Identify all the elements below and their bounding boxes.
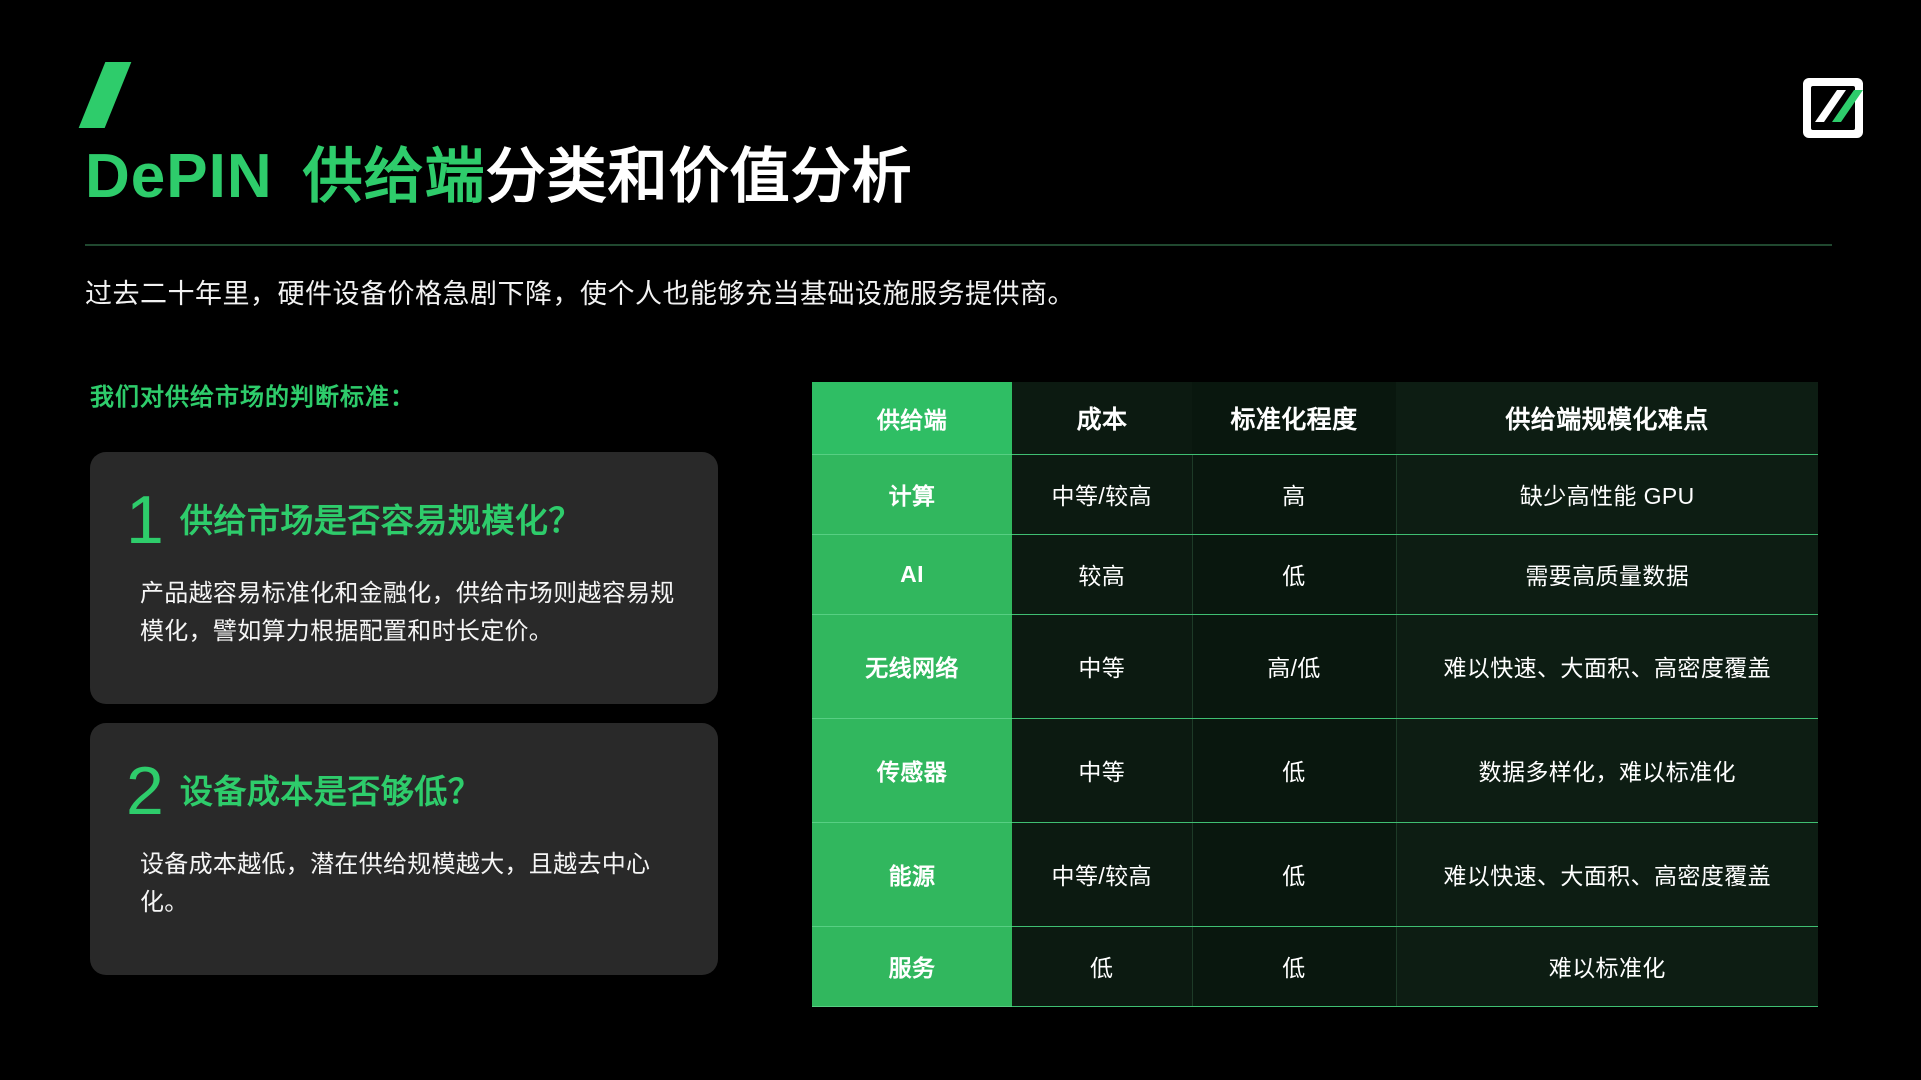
cell-cost: 低: [1012, 926, 1192, 1006]
cell-supply: AI: [812, 534, 1012, 614]
table-row: AI 较高 低 需要高质量数据: [812, 534, 1818, 614]
table-row: 能源 中等/较高 低 难以快速、大面积、高密度覆盖: [812, 822, 1818, 926]
cell-cost: 中等: [1012, 718, 1192, 822]
criteria-card-2-number: 2: [126, 759, 164, 824]
page-title: DePIN 供给端 分类和价值分析: [85, 128, 913, 215]
cell-standardization: 低: [1192, 926, 1396, 1006]
column-header-cost: 成本: [1012, 382, 1192, 454]
criteria-card-1-number: 1: [126, 488, 164, 553]
header-divider: [85, 244, 1832, 246]
column-header-supply: 供给端: [812, 382, 1012, 454]
cell-supply: 能源: [812, 822, 1012, 926]
supply-matrix-head: 供给端 成本 标准化程度 供给端规模化难点: [812, 382, 1818, 454]
z-slash-logo-icon: [1802, 77, 1864, 139]
cell-difficulty: 难以快速、大面积、高密度覆盖: [1396, 614, 1818, 718]
table-row: 无线网络 中等 高/低 难以快速、大面积、高密度覆盖: [812, 614, 1818, 718]
cell-difficulty: 难以快速、大面积、高密度覆盖: [1396, 822, 1818, 926]
slide-root: DePIN 供给端 分类和价值分析 过去二十年里，硬件设备价格急剧下降，使个人也…: [0, 0, 1921, 1080]
column-header-difficulty: 供给端规模化难点: [1396, 382, 1818, 454]
cell-supply: 计算: [812, 454, 1012, 534]
criteria-card-2-title: 设备成本是否够低？: [180, 765, 482, 817]
criteria-card-1-title: 供给市场是否容易规模化？: [180, 494, 582, 546]
criteria-label: 我们对供给市场的判断标准：: [90, 377, 415, 412]
criteria-card-2-head: 2 设备成本是否够低？: [126, 759, 676, 824]
cell-difficulty: 需要高质量数据: [1396, 534, 1818, 614]
page-subtitle: 过去二十年里，硬件设备价格急剧下降，使个人也能够充当基础设施服务提供商。: [85, 272, 1075, 311]
criteria-card-1-body: 产品越容易标准化和金融化，供给市场则越容易规模化，譬如算力根据配置和时长定价。: [140, 575, 676, 653]
cell-supply: 服务: [812, 926, 1012, 1006]
cell-cost: 中等: [1012, 614, 1192, 718]
table-row: 计算 中等/较高 高 缺少高性能 GPU: [812, 454, 1818, 534]
page-title-white: 分类和价值分析: [486, 128, 913, 215]
supply-matrix-table: 供给端 成本 标准化程度 供给端规模化难点 计算 中等/较高 高 缺少高性能 G…: [812, 382, 1818, 1007]
supply-matrix-table-wrap: 供给端 成本 标准化程度 供给端规模化难点 计算 中等/较高 高 缺少高性能 G…: [812, 382, 1818, 1007]
column-header-standardization: 标准化程度: [1192, 382, 1396, 454]
cell-standardization: 高/低: [1192, 614, 1396, 718]
cell-difficulty: 数据多样化，难以标准化: [1396, 718, 1818, 822]
cell-cost: 较高: [1012, 534, 1192, 614]
supply-matrix-body: 计算 中等/较高 高 缺少高性能 GPU AI 较高 低 需要高质量数据 无线网…: [812, 454, 1818, 1006]
table-header-row: 供给端 成本 标准化程度 供给端规模化难点: [812, 382, 1818, 454]
criteria-card-2: 2 设备成本是否够低？ 设备成本越低，潜在供给规模越大，且越去中心化。: [90, 723, 718, 975]
criteria-card-1: 1 供给市场是否容易规模化？ 产品越容易标准化和金融化，供给市场则越容易规模化，…: [90, 452, 718, 704]
cell-difficulty: 难以标准化: [1396, 926, 1818, 1006]
cell-standardization: 低: [1192, 718, 1396, 822]
slash-accent-icon: [79, 62, 132, 128]
cell-standardization: 低: [1192, 534, 1396, 614]
table-row: 传感器 中等 低 数据多样化，难以标准化: [812, 718, 1818, 822]
criteria-card-2-body: 设备成本越低，潜在供给规模越大，且越去中心化。: [140, 846, 676, 924]
criteria-card-1-head: 1 供给市场是否容易规模化？: [126, 488, 676, 553]
page-title-green: 供给端: [303, 128, 486, 215]
cell-difficulty: 缺少高性能 GPU: [1396, 454, 1818, 534]
cell-standardization: 高: [1192, 454, 1396, 534]
page-title-brand: DePIN: [85, 141, 273, 212]
cell-standardization: 低: [1192, 822, 1396, 926]
cell-cost: 中等/较高: [1012, 822, 1192, 926]
table-row: 服务 低 低 难以标准化: [812, 926, 1818, 1006]
cell-supply: 无线网络: [812, 614, 1012, 718]
cell-supply: 传感器: [812, 718, 1012, 822]
cell-cost: 中等/较高: [1012, 454, 1192, 534]
